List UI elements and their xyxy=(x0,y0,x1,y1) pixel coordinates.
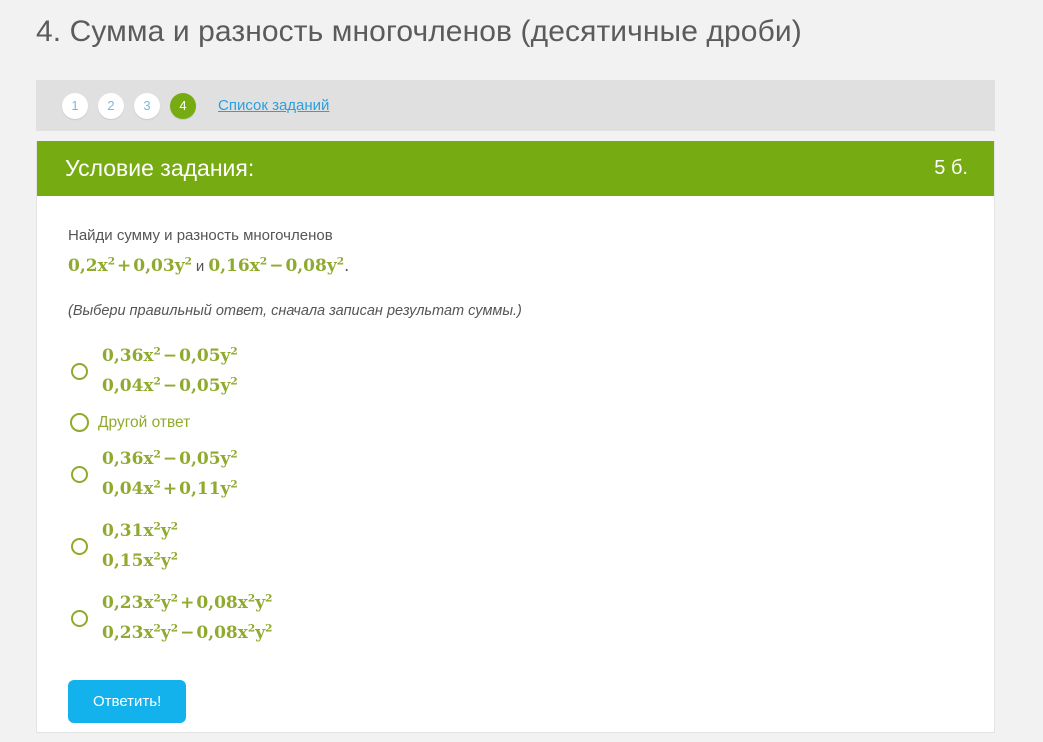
page-title: 4. Сумма и разность многочленов (десятич… xyxy=(0,0,1043,52)
pagination: 1 2 3 4 Список заданий xyxy=(36,80,995,131)
option-3-content: 0,36x2−0,05y2 0,04x2+0,11y2 xyxy=(102,444,238,504)
option-2-other-answer[interactable]: Другой ответ xyxy=(68,413,964,432)
task-card: Условие задания: 5 б. Найди сумму и разн… xyxy=(36,141,995,733)
tasks-list-link[interactable]: Список заданий xyxy=(218,97,329,114)
radio-option-3[interactable] xyxy=(71,466,88,483)
page-circle-2[interactable]: 2 xyxy=(98,93,124,119)
expression-first: 0,2x2+0,03y2 xyxy=(68,256,192,276)
option-4[interactable]: 0,31x2y2 0,15x2y2 xyxy=(68,516,964,576)
option-4-line-2: 0,15x2y2 xyxy=(102,546,178,576)
option-1-line-1: 0,36x2−0,05y2 xyxy=(102,341,238,371)
expression-second: 0,16x2−0,08y2 xyxy=(208,256,344,276)
radio-option-1[interactable] xyxy=(71,363,88,380)
expression-period: . xyxy=(344,256,349,275)
page-circle-1[interactable]: 1 xyxy=(62,93,88,119)
option-2-label: Другой ответ xyxy=(98,414,190,432)
task-expression: 0,2x2+0,03y2и0,16x2−0,08y2. xyxy=(68,255,964,278)
task-header-title: Условие задания: xyxy=(65,155,254,182)
radio-option-2[interactable] xyxy=(70,413,89,432)
page-circle-3[interactable]: 3 xyxy=(134,93,160,119)
answer-options: 0,36x2−0,05y2 0,04x2−0,05y2 Другой ответ… xyxy=(68,341,964,648)
task-prompt: Найди сумму и разность многочленов xyxy=(68,224,964,247)
option-3-line-1: 0,36x2−0,05y2 xyxy=(102,444,238,474)
option-4-content: 0,31x2y2 0,15x2y2 xyxy=(102,516,178,576)
option-4-line-1: 0,31x2y2 xyxy=(102,516,178,546)
submit-row: Ответить! xyxy=(68,680,964,723)
option-5-line-2: 0,23x2y2−0,08x2y2 xyxy=(102,618,272,648)
option-1[interactable]: 0,36x2−0,05y2 0,04x2−0,05y2 xyxy=(68,341,964,401)
task-card-body: Найди сумму и разность многочленов 0,2x2… xyxy=(37,196,994,723)
option-5-line-1: 0,23x2y2+0,08x2y2 xyxy=(102,588,272,618)
expression-conjunction: и xyxy=(192,258,208,275)
page-circle-4-active[interactable]: 4 xyxy=(170,93,196,119)
option-1-content: 0,36x2−0,05y2 0,04x2−0,05y2 xyxy=(102,341,238,401)
task-card-header: Условие задания: 5 б. xyxy=(37,141,994,196)
radio-option-5[interactable] xyxy=(71,610,88,627)
task-points-badge: 5 б. xyxy=(934,157,968,180)
task-hint: (Выбери правильный ответ, сначала записа… xyxy=(68,303,964,319)
option-3-line-2: 0,04x2+0,11y2 xyxy=(102,474,238,504)
option-5-content: 0,23x2y2+0,08x2y2 0,23x2y2−0,08x2y2 xyxy=(102,588,272,648)
submit-answer-button[interactable]: Ответить! xyxy=(68,680,186,723)
option-3[interactable]: 0,36x2−0,05y2 0,04x2+0,11y2 xyxy=(68,444,964,504)
radio-option-4[interactable] xyxy=(71,538,88,555)
option-5[interactable]: 0,23x2y2+0,08x2y2 0,23x2y2−0,08x2y2 xyxy=(68,588,964,648)
option-1-line-2: 0,04x2−0,05y2 xyxy=(102,371,238,401)
